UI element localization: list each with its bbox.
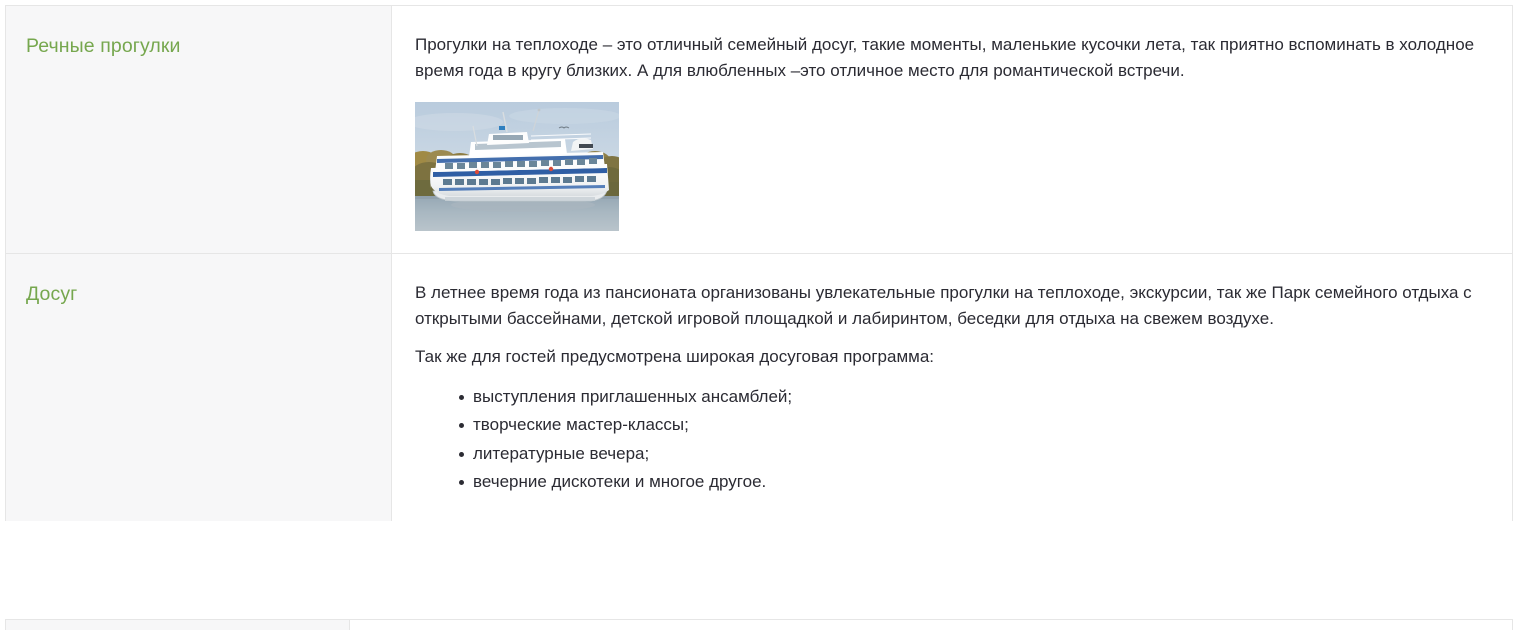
list-item: вечерние дискотеки и многое другое. [473, 469, 1492, 495]
section-label-cell-river-cruises: Речные прогулки [6, 6, 392, 254]
section-title: Досуг [26, 282, 371, 306]
section-content-cell-leisure: В летнее время года из пансионата органи… [392, 254, 1513, 522]
page-root: Речные прогулки Прогулки на теплоходе – … [0, 0, 1527, 629]
section-title: Речные прогулки [26, 34, 371, 58]
river-cruise-ship-photo [415, 102, 619, 231]
leisure-program-list: выступления приглашенных ансамблей; твор… [415, 384, 1492, 495]
section-paragraph: В летнее время года из пансионата органи… [415, 280, 1492, 332]
river-cruise-ship-photo-graphic [415, 102, 619, 231]
section-content-cell-river-cruises: Прогулки на теплоходе – это отличный сем… [392, 6, 1513, 254]
list-item: выступления приглашенных ансамблей; [473, 384, 1492, 410]
table-row: Досуг В летнее время года из пансионата … [6, 254, 1513, 522]
info-table: Речные прогулки Прогулки на теплоходе – … [5, 5, 1513, 521]
list-item: литературные вечера; [473, 441, 1492, 467]
next-table-row-peek [5, 619, 1513, 629]
table-row: Речные прогулки Прогулки на теплоходе – … [6, 6, 1513, 254]
list-item: творческие мастер-классы; [473, 412, 1492, 438]
section-paragraph: Так же для гостей предусмотрена широкая … [415, 344, 1492, 370]
info-table-body: Речные прогулки Прогулки на теплоходе – … [6, 6, 1513, 522]
section-paragraph: Прогулки на теплоходе – это отличный сем… [415, 32, 1492, 84]
section-label-cell-leisure: Досуг [6, 254, 392, 522]
